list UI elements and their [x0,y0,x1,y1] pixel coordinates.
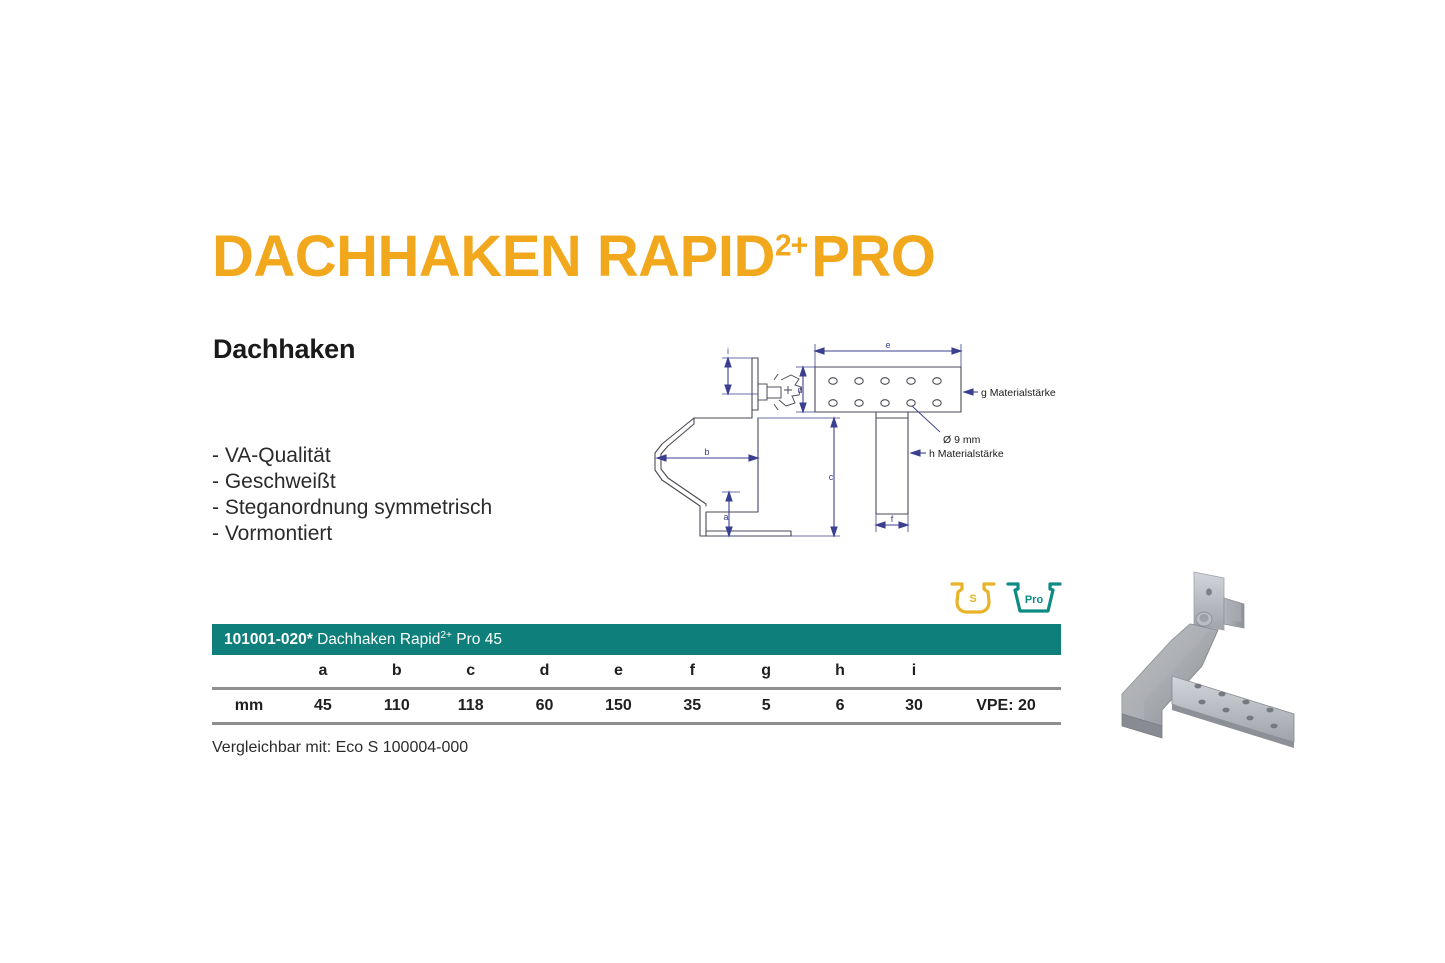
cell-f: 35 [655,689,729,724]
article-name-superscript: 2+ [440,630,452,641]
annotation-h-materialstaerke: h Materialstärke [929,448,1004,460]
hook-profile-outline [655,358,791,536]
table-row: mm 45 110 118 60 150 35 5 6 30 VPE: 20 [212,689,1061,724]
pro-profile-badge-label: Pro [1025,594,1044,606]
comparison-note: Vergleichbar mit: Eco S 100004-000 [212,739,1061,757]
col-header-b: b [360,655,434,689]
technical-drawing: e d i b c a f g Materialstärke h Materia… [648,340,1088,590]
feature-list: - VA-Qualität - Geschweißt - Steganordnu… [212,443,492,547]
article-name-suffix: Pro 45 [456,631,502,648]
col-header-f: f [655,655,729,689]
plate-hole-group [829,378,941,407]
photo-bolt [1196,612,1212,626]
page-title-main: DACHHAKEN RAPID [212,224,775,289]
col-header-d: d [508,655,582,689]
cell-b: 110 [360,689,434,724]
page-title-superscript: 2+ [775,230,807,263]
feature-item: - Steganordnung symmetrisch [212,495,492,521]
col-header-i: i [877,655,951,689]
col-header-e: e [582,655,656,689]
dim-label-c: c [829,472,834,482]
article-name-prefix: Dachhaken Rapid [317,631,440,648]
feature-item: - Geschweißt [212,469,492,495]
section-subtitle: Dachhaken [213,334,355,365]
cell-unit: mm [212,689,286,724]
clamp-detail [758,374,801,410]
profile-badge-group: S Pro [948,576,1068,618]
spec-table-header-bar: 101001-020* Dachhaken Rapid2+ Pro 45 [212,624,1061,655]
page-title: DACHHAKEN RAPID2+PRO [212,228,935,286]
dim-label-f: f [891,514,894,524]
annotation-hole-diameter: Ø 9 mm [943,434,981,446]
feature-item: - Vormontiert [212,521,492,547]
vertical-leg-outline [876,412,908,514]
cell-d: 60 [508,689,582,724]
spec-table-header-row: a b c d e f g h i [212,655,1061,689]
s-profile-badge-label: S [969,593,976,605]
cell-vpe: VPE: 20 [951,689,1061,724]
cell-c: 118 [434,689,508,724]
col-header-unit [212,655,286,689]
annotation-g-materialstaerke: g Materialstärke [981,387,1056,399]
dim-label-e: e [885,340,890,350]
feature-item: - VA-Qualität [212,443,492,469]
dim-label-a: a [723,512,728,522]
photo-clip-fin [1224,598,1244,628]
product-photo [1098,558,1326,778]
dimension-lines [657,344,978,536]
cell-g: 5 [729,689,803,724]
dim-label-d: d [797,385,802,395]
cell-h: 6 [803,689,877,724]
page-title-suffix: PRO [811,224,935,289]
col-header-a: a [286,655,360,689]
col-header-c: c [434,655,508,689]
col-header-h: h [803,655,877,689]
article-number: 101001-020* [224,631,313,648]
photo-base-plate [1172,676,1294,748]
col-header-vpe [951,655,1061,689]
dim-label-i: i [727,346,729,356]
photo-hook-arm [1122,624,1218,738]
cell-a: 45 [286,689,360,724]
drawing-annotations: g Materialstärke h Materialstärke Ø 9 mm [929,387,1056,460]
spec-table: a b c d e f g h i mm 45 110 118 [212,655,1061,725]
col-header-g: g [729,655,803,689]
datasheet-page: DACHHAKEN RAPID2+PRO Dachhaken - VA-Qual… [0,0,1445,963]
dimension-labels: e d i b c a f [704,340,893,524]
dim-label-b: b [704,447,709,457]
cell-i: 30 [877,689,951,724]
cell-e: 150 [582,689,656,724]
spec-table-block: 101001-020* Dachhaken Rapid2+ Pro 45 a b… [212,624,1061,757]
